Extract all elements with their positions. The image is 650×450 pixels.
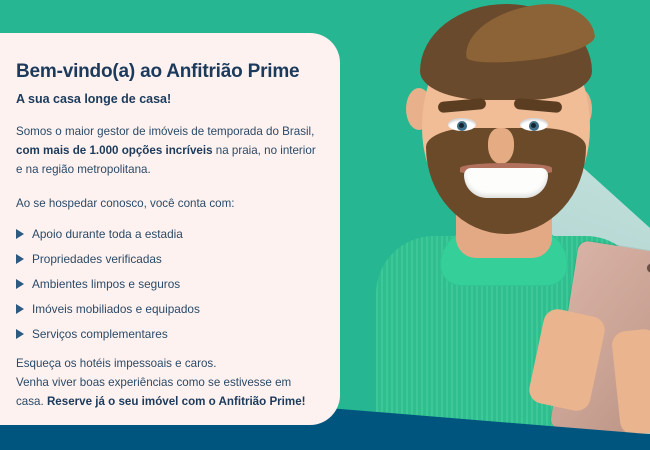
tablet-camera-icon — [646, 263, 650, 273]
list-item: Apoio durante toda a estadia — [16, 227, 316, 241]
eye-left — [448, 118, 476, 131]
promo-banner: Bem-vindo(a) ao Anfitrião Prime A sua ca… — [0, 0, 650, 450]
list-item: Ambientes limpos e seguros — [16, 277, 316, 291]
eye-right — [520, 118, 548, 131]
list-item-label: Ambientes limpos e seguros — [32, 277, 180, 291]
welcome-card: Bem-vindo(a) ao Anfitrião Prime A sua ca… — [0, 33, 340, 425]
list-item: Imóveis mobiliados e equipados — [16, 302, 316, 316]
intro-paragraph: Somos o maior gestor de imóveis de tempo… — [16, 123, 316, 179]
closing-paragraph: Esqueça os hotéis impessoais e caros.Ven… — [16, 355, 316, 411]
list-item-label: Serviços complementares — [32, 327, 168, 341]
triangle-right-icon — [16, 229, 24, 239]
benefits-list: Apoio durante toda a estadia Propriedade… — [16, 227, 316, 341]
triangle-right-icon — [16, 329, 24, 339]
triangle-right-icon — [16, 279, 24, 289]
card-subtitle: A sua casa longe de casa! — [16, 92, 316, 106]
list-item-label: Apoio durante toda a estadia — [32, 227, 183, 241]
pupil-right — [529, 121, 539, 131]
list-item: Serviços complementares — [16, 327, 316, 341]
list-item: Propriedades verificadas — [16, 252, 316, 266]
person-illustration — [368, 0, 650, 450]
triangle-right-icon — [16, 304, 24, 314]
list-item-label: Propriedades verificadas — [32, 252, 162, 266]
lead-in-paragraph: Ao se hospedar conosco, você conta com: — [16, 195, 316, 214]
navy-footer-bar — [0, 434, 650, 450]
page-title: Bem-vindo(a) ao Anfitrião Prime — [16, 61, 316, 83]
list-item-label: Imóveis mobiliados e equipados — [32, 302, 200, 316]
nose — [488, 128, 514, 164]
intro-text-before: Somos o maior gestor de imóveis de tempo… — [16, 125, 314, 138]
smile-teeth — [464, 168, 548, 198]
cta-text: Reserve já o seu imóvel com o Anfitrião … — [47, 395, 306, 408]
intro-text-highlight: com mais de 1.000 opções incríveis — [16, 144, 213, 157]
closing-line-1: Esqueça os hotéis impessoais e caros. — [16, 357, 216, 370]
pupil-left — [457, 121, 467, 131]
triangle-right-icon — [16, 254, 24, 264]
